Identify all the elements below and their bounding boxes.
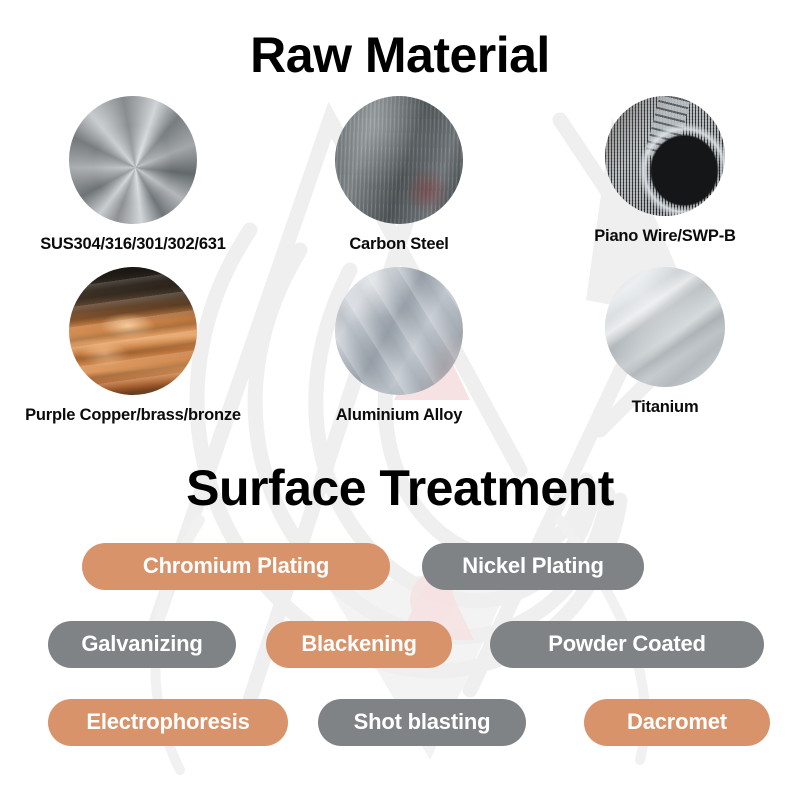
- surface-treatment-list: Chromium Plating Nickel Plating Galvaniz…: [0, 538, 800, 772]
- material-label: Aluminium Alloy: [336, 405, 463, 425]
- treatment-pill-galvanizing[interactable]: Galvanizing: [48, 621, 236, 668]
- treatment-pill-shot-blasting[interactable]: Shot blasting: [318, 699, 526, 746]
- material-label: Purple Copper/brass/bronze: [25, 405, 241, 425]
- piano-wire-disc-icon: [605, 96, 725, 216]
- treatment-row-2: Galvanizing Blackening Powder Coated: [0, 616, 800, 672]
- carbon-steel-disc-icon: [335, 96, 463, 224]
- treatment-pill-electrophoresis[interactable]: Electrophoresis: [48, 699, 288, 746]
- aluminium-disc-icon: [335, 267, 463, 395]
- material-card-copper[interactable]: Purple Copper/brass/bronze: [0, 267, 266, 425]
- raw-material-grid: SUS304/316/301/302/631 Carbon Steel Pian…: [0, 96, 800, 425]
- raw-material-heading: Raw Material: [0, 24, 800, 86]
- material-card-piano-wire[interactable]: Piano Wire/SWP-B: [532, 96, 798, 254]
- treatment-pill-powder-coated[interactable]: Powder Coated: [490, 621, 764, 668]
- material-card-titanium[interactable]: Titanium: [532, 267, 798, 425]
- material-card-carbon-steel[interactable]: Carbon Steel: [266, 96, 532, 254]
- titanium-disc-icon: [605, 267, 725, 387]
- copper-rods-disc-icon: [69, 267, 197, 395]
- infographic-page: Raw Material SUS304/316/301/302/631 Carb…: [0, 0, 800, 800]
- material-row-2: Purple Copper/brass/bronze Aluminium All…: [0, 267, 800, 425]
- material-row-1: SUS304/316/301/302/631 Carbon Steel Pian…: [0, 96, 800, 254]
- wire-strands-detail: [645, 96, 692, 161]
- treatment-pill-chromium-plating[interactable]: Chromium Plating: [82, 543, 390, 590]
- treatment-pill-nickel-plating[interactable]: Nickel Plating: [422, 543, 644, 590]
- treatment-row-1: Chromium Plating Nickel Plating: [0, 538, 800, 594]
- stainless-steel-disc-icon: [69, 96, 197, 224]
- treatment-pill-dacromet[interactable]: Dacromet: [584, 699, 770, 746]
- treatment-pill-blackening[interactable]: Blackening: [266, 621, 452, 668]
- material-card-sus304[interactable]: SUS304/316/301/302/631: [0, 96, 266, 254]
- material-label: Titanium: [632, 397, 699, 417]
- material-label: Piano Wire/SWP-B: [594, 226, 736, 246]
- material-label: Carbon Steel: [349, 234, 448, 254]
- material-label: SUS304/316/301/302/631: [40, 234, 226, 254]
- treatment-row-3: Electrophoresis Shot blasting Dacromet: [0, 694, 800, 750]
- material-card-aluminium[interactable]: Aluminium Alloy: [266, 267, 532, 425]
- surface-treatment-heading: Surface Treatment: [0, 457, 800, 519]
